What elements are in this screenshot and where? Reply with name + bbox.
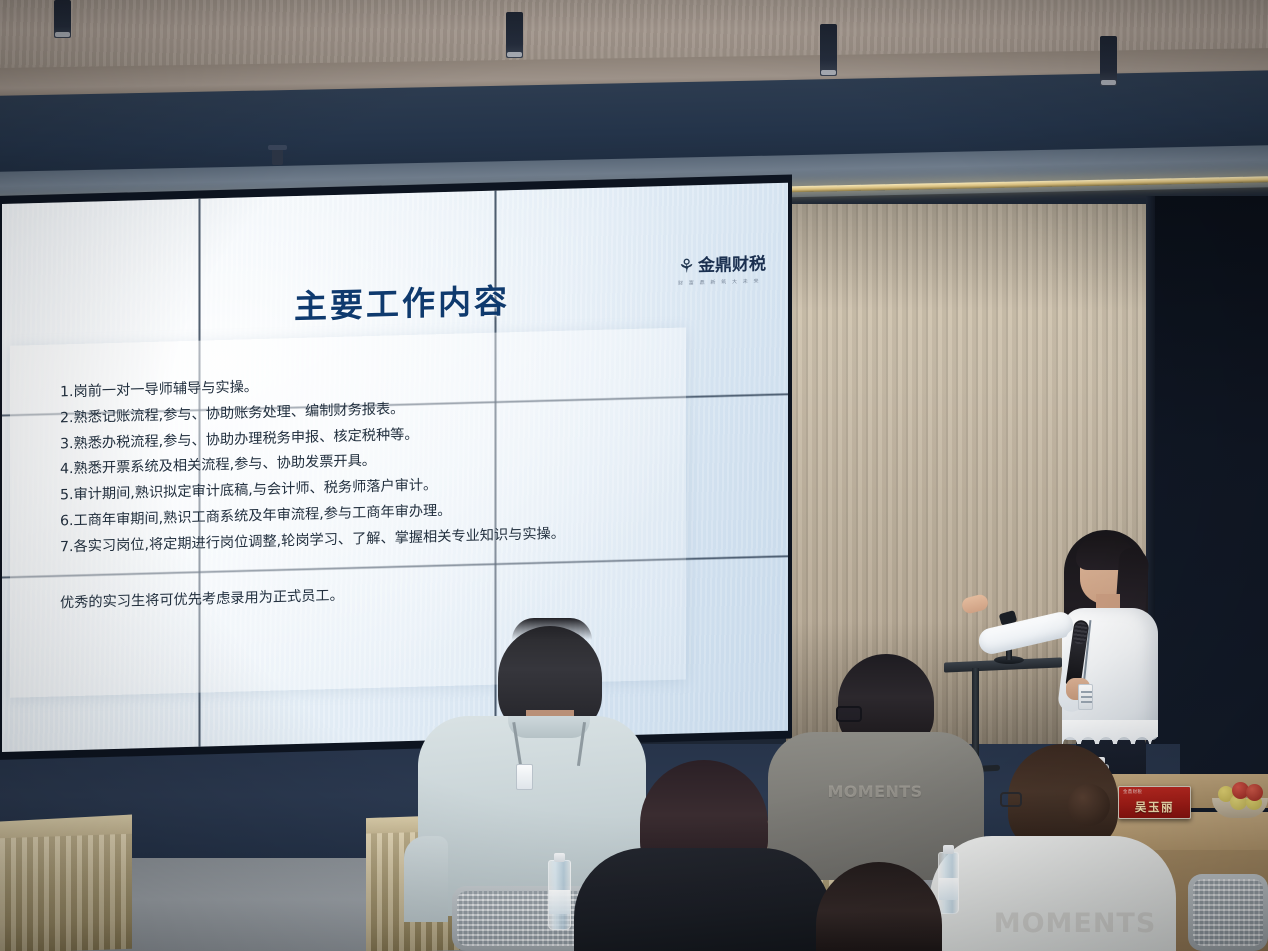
slide-bullet-list: 1.岗前一对一导师辅导与实操。 2.熟悉记账流程,参与、协助账务处理、编制财务报…	[60, 364, 660, 612]
presenter-badge	[1078, 684, 1093, 710]
logo-company-name: 金鼎财税	[698, 256, 766, 275]
mesh-chair-back	[1188, 874, 1268, 951]
shirt-graphic-text: MOMENTS	[990, 908, 1160, 939]
attendee-hair	[512, 618, 592, 640]
apple-icon	[1246, 784, 1263, 801]
glasses-icon	[1000, 792, 1022, 807]
downlight-icon	[820, 24, 837, 76]
attendee-collar	[508, 716, 590, 738]
downlight-icon	[1100, 36, 1117, 86]
name-card-name: 吴玉丽	[1119, 799, 1190, 815]
ceiling-sensor-icon	[272, 145, 283, 165]
company-logo: ⚘ 金鼎财税 财 富 鼎 新 筑 大 未 来	[678, 255, 782, 287]
downlight-icon	[506, 12, 523, 58]
video-wall-screen[interactable]: 主要工作内容 ⚘ 金鼎财税 财 富 鼎 新 筑 大 未 来 1.岗前一对一导师辅…	[2, 183, 788, 752]
name-card: 金鼎财税 吴玉丽	[1118, 786, 1191, 819]
downlight-icon	[54, 0, 71, 38]
attendee-partial-arm	[404, 836, 448, 922]
presenter-lace-hem	[1062, 720, 1158, 744]
conference-room-photo: 主要工作内容 ⚘ 金鼎财税 财 富 鼎 新 筑 大 未 来 1.岗前一对一导师辅…	[0, 0, 1268, 951]
name-card-brand: 金鼎财税	[1123, 789, 1142, 795]
glasses-icon	[836, 706, 862, 722]
hair-bun	[1068, 784, 1110, 826]
water-bottle	[548, 860, 571, 930]
attendee-badge	[516, 764, 533, 790]
logo-mark-icon: ⚘	[678, 257, 695, 276]
left-table-skirt	[0, 834, 132, 951]
water-bottle	[938, 852, 959, 914]
attendee-hoodie	[574, 848, 832, 951]
shirt-graphic-text: MOMENTS	[790, 782, 960, 801]
slide-title: 主要工作内容	[252, 273, 552, 329]
